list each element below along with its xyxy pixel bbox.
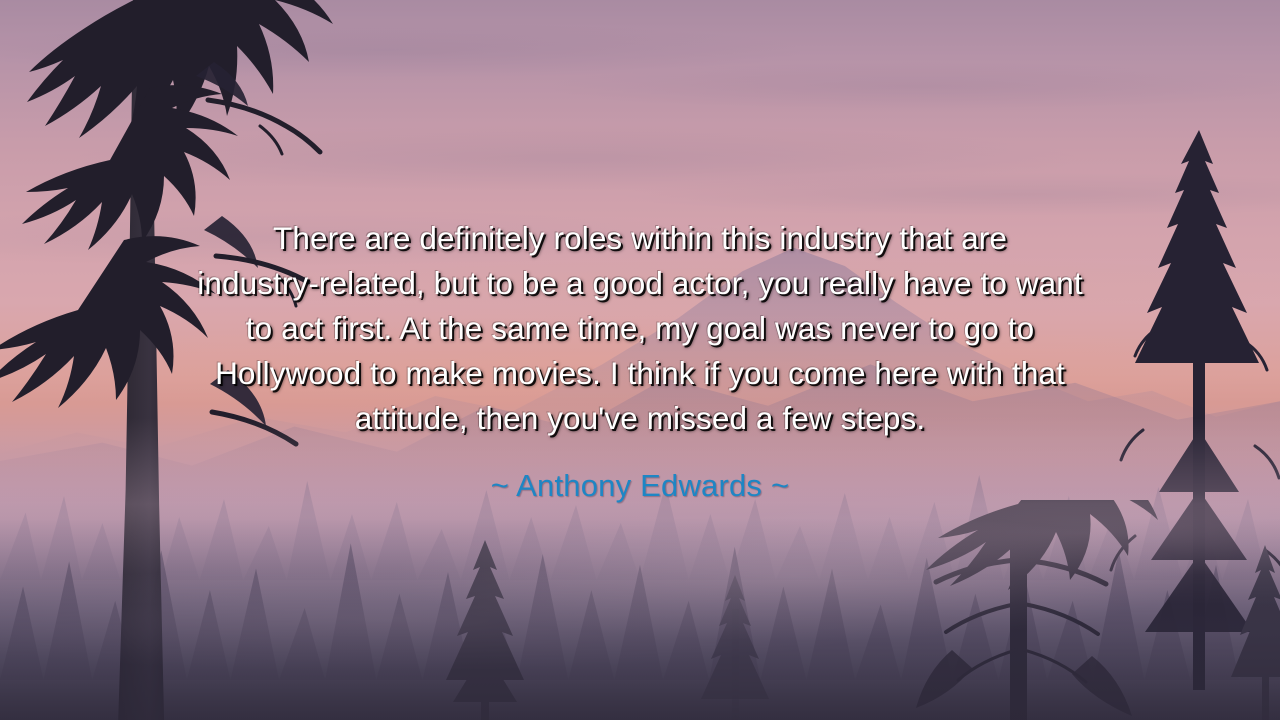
quote-text: There are definitely roles within this i… — [125, 216, 1155, 441]
quote-author: ~ Anthony Edwards ~ — [491, 467, 790, 505]
quote-overlay: There are definitely roles within this i… — [0, 0, 1280, 720]
quote-image-canvas: There are definitely roles within this i… — [0, 0, 1280, 720]
